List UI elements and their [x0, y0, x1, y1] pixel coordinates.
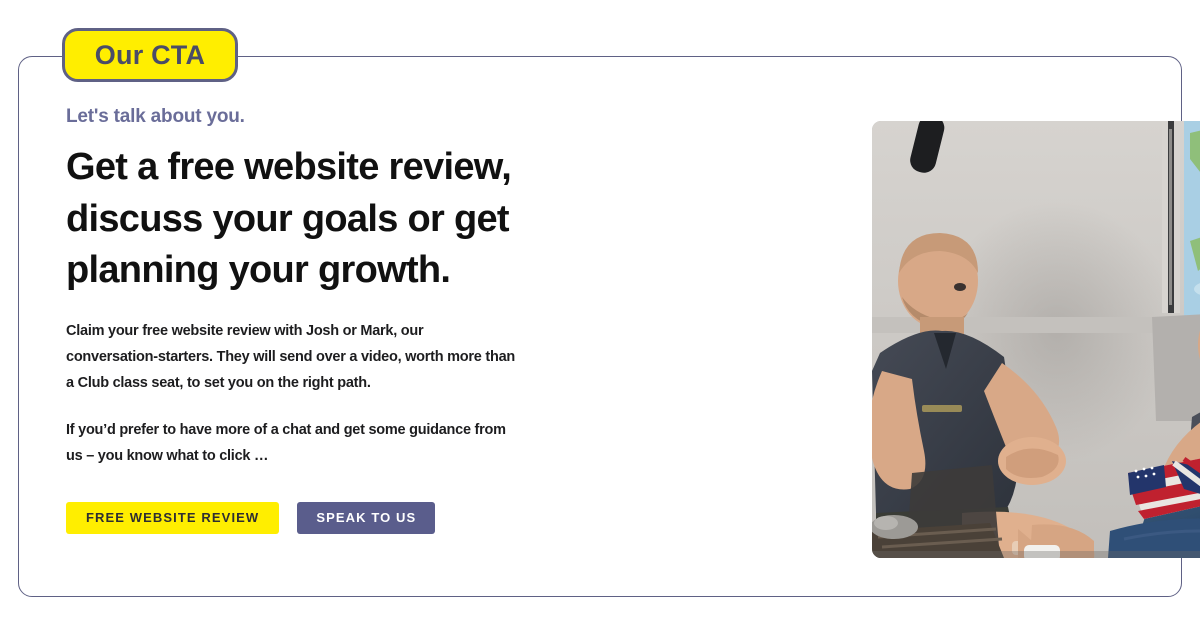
cta-card: Let's talk about you. Get a free website… [18, 56, 1182, 597]
conversation-photo-illustration [872, 121, 1200, 558]
body-paragraph-1: Claim your free website review with Josh… [66, 319, 518, 397]
free-website-review-button[interactable]: FREE WEBSITE REVIEW [66, 502, 279, 534]
conversation-photo [872, 121, 1200, 558]
cta-button-row: FREE WEBSITE REVIEW SPEAK TO US [66, 502, 719, 534]
cta-section: Let's talk about you. Get a free website… [0, 0, 1200, 628]
cta-card-inner: Let's talk about you. Get a free website… [19, 57, 1181, 596]
speak-to-us-button[interactable]: SPEAK TO US [297, 502, 435, 534]
section-badge: Our CTA [62, 28, 238, 82]
page-title: Get a free website review, discuss your … [66, 142, 536, 297]
section-badge-label: Our CTA [95, 42, 205, 69]
cta-text-column: Let's talk about you. Get a free website… [19, 57, 719, 596]
eyebrow-text: Let's talk about you. [66, 106, 719, 128]
body-paragraph-2: If you’d prefer to have more of a chat a… [66, 418, 518, 470]
cta-media-column [719, 57, 1181, 596]
